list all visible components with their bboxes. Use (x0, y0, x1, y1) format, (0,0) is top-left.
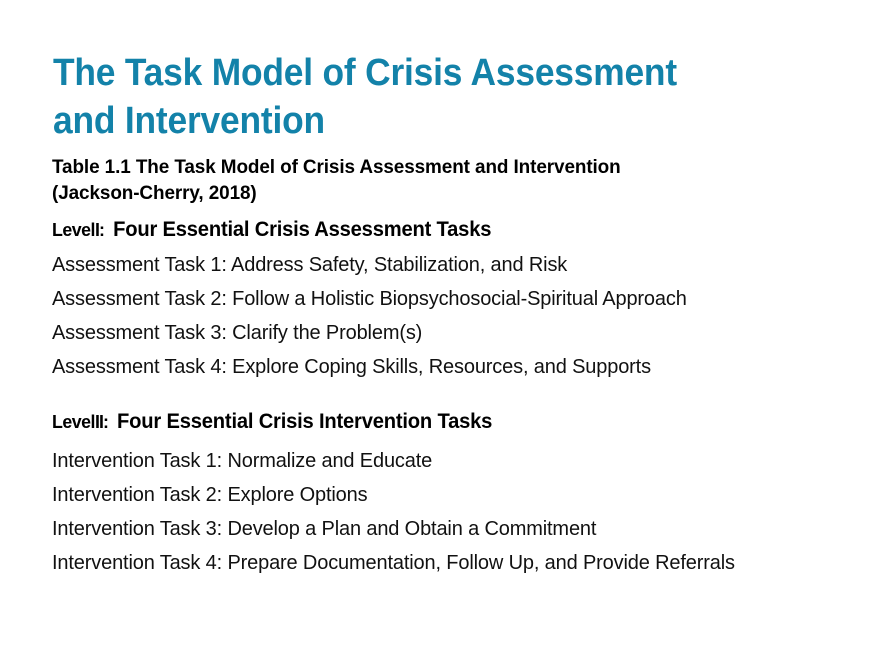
level-1-task-list: Assessment Task 1: Address Safety, Stabi… (52, 248, 852, 384)
page-title-line-1: The Task Model of Crisis Assessment (53, 49, 788, 97)
table-caption: Table 1.1 The Task Model of Crisis Asses… (52, 154, 828, 206)
level-1-heading: LevelI:Four Essential Crisis Assessment … (52, 218, 820, 242)
list-item: Intervention Task 2: Explore Options (52, 478, 832, 512)
level-1-colon: : (99, 219, 104, 240)
slide-body: Table 1.1 The Task Model of Crisis Asses… (52, 154, 852, 580)
level-2-title: Four Essential Crisis Intervention Tasks (108, 410, 492, 433)
page-title: The Task Model of Crisis Assessment and … (53, 49, 788, 145)
page-title-line-2: and Intervention (53, 97, 788, 145)
level-2-numeral: II (95, 411, 103, 432)
level-1-tag: LevelI: (52, 219, 104, 240)
table-caption-line-1: Table 1.1 The Task Model of Crisis Asses… (52, 154, 828, 180)
list-item: Intervention Task 4: Prepare Documentati… (52, 546, 832, 580)
list-item: Intervention Task 3: Develop a Plan and … (52, 512, 832, 546)
list-item: Assessment Task 1: Address Safety, Stabi… (52, 248, 832, 282)
level-1-tag-word: Level (52, 219, 95, 240)
list-item: Assessment Task 4: Explore Coping Skills… (52, 350, 832, 384)
level-2-tag: LevelII: (52, 411, 108, 432)
slide-canvas: The Task Model of Crisis Assessment and … (0, 0, 880, 660)
level-2-heading: LevelII:Four Essential Crisis Interventi… (52, 410, 820, 434)
list-item: Assessment Task 2: Follow a Holistic Bio… (52, 282, 832, 316)
level-2-tag-word: Level (52, 411, 95, 432)
level-2-task-list: Intervention Task 1: Normalize and Educa… (52, 444, 852, 580)
list-item: Assessment Task 3: Clarify the Problem(s… (52, 316, 832, 350)
list-item: Intervention Task 1: Normalize and Educa… (52, 444, 832, 478)
level-2-colon: : (103, 411, 108, 432)
level-1-title: Four Essential Crisis Assessment Tasks (104, 218, 491, 241)
table-caption-line-2: (Jackson-Cherry, 2018) (52, 180, 828, 206)
